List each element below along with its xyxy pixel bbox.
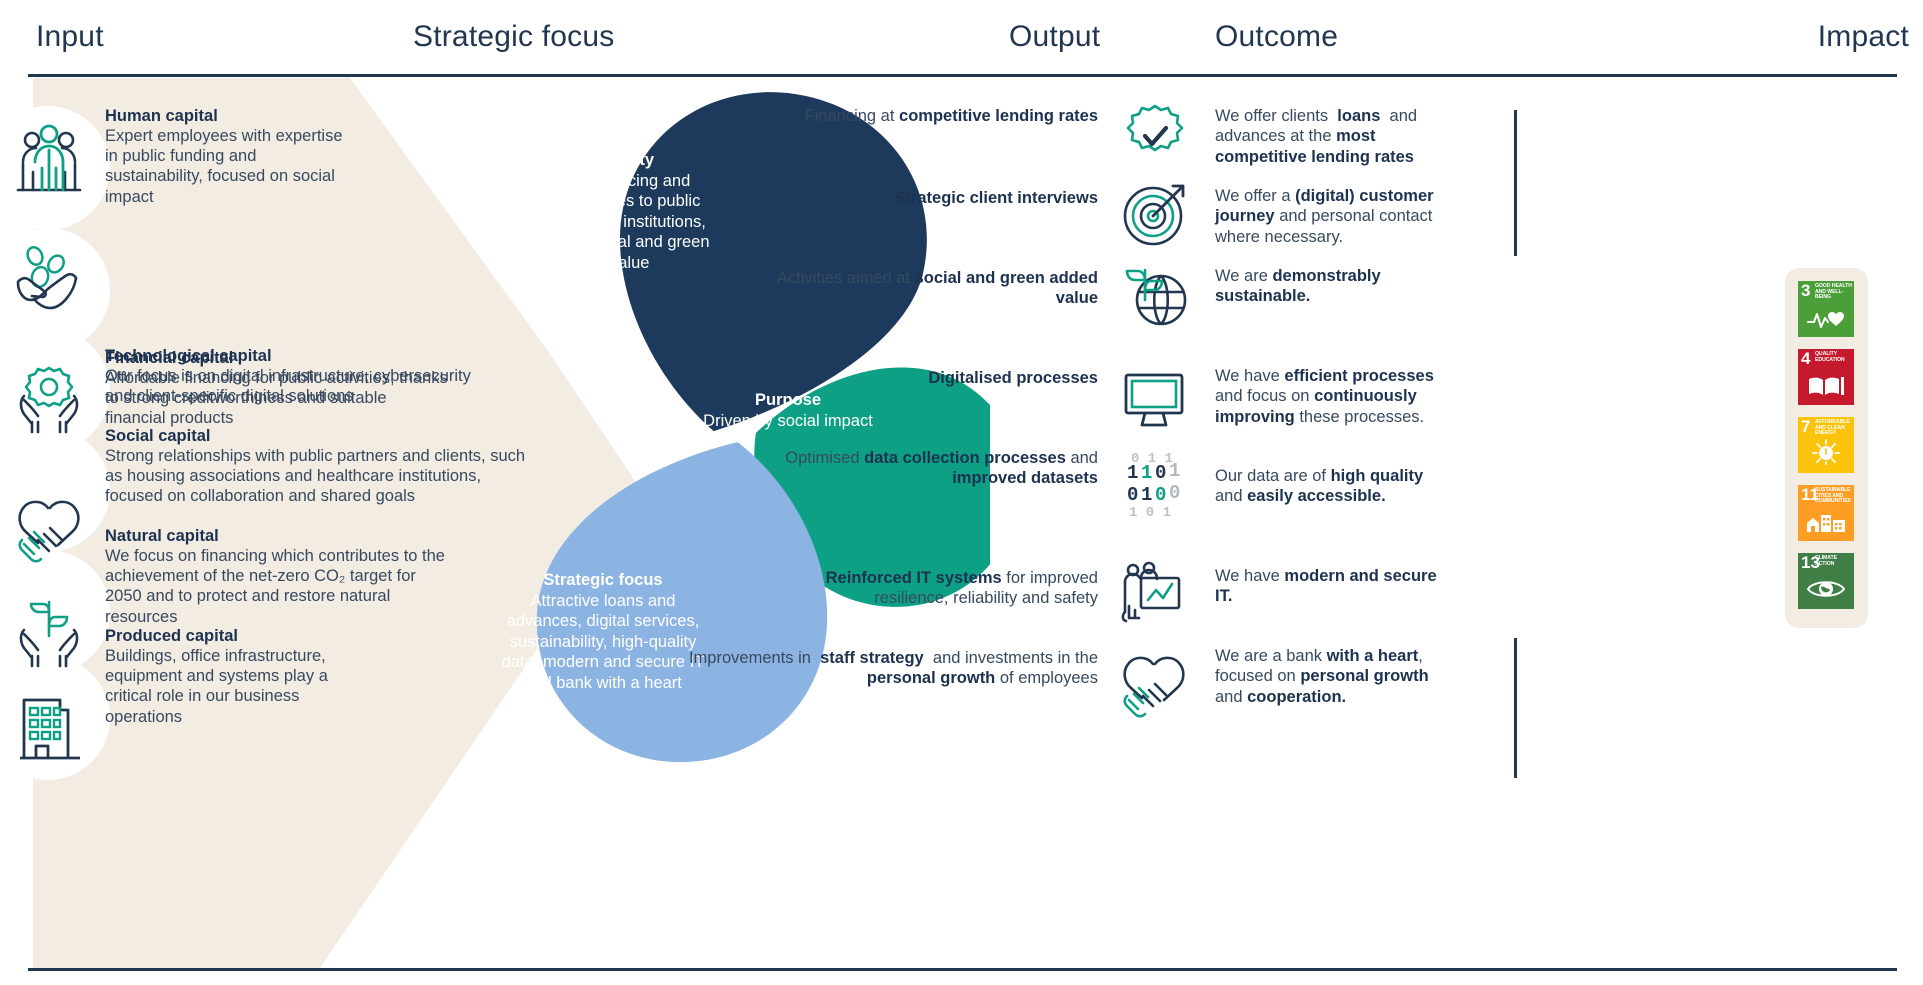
book-icon <box>1798 375 1854 402</box>
outcome-column: We offer clients loans and advances at t… <box>1215 78 1475 968</box>
column-header-strategic: Strategic focus <box>413 20 614 54</box>
footer-divider-rule <box>28 968 1897 971</box>
column-header-outcome: Outcome <box>1215 20 1338 54</box>
sdg-label: Sustainable cities and communities <box>1815 488 1852 505</box>
output-row-text: Improvements in staff strategy and inves… <box>668 648 1098 689</box>
input-item-body: Expert employees with expertise in publi… <box>105 126 355 207</box>
input-item-body: We focus on financing which contributes … <box>105 546 450 627</box>
badge-check-icon <box>1115 100 1195 172</box>
sun-icon <box>1798 439 1854 470</box>
svg-text:1 0 1: 1 0 1 <box>1129 505 1171 521</box>
sdg-badge-4[interactable]: 4 Quality education <box>1798 349 1854 405</box>
column-header-input: Input <box>36 20 104 54</box>
sdg-label: Quality education <box>1815 352 1852 363</box>
handshake-heart-icon <box>1115 646 1195 718</box>
svg-text:1: 1 <box>1141 484 1152 506</box>
svg-text:0: 0 <box>1155 484 1166 506</box>
output-row-text: Strategic client interviews <box>768 188 1098 208</box>
outcome-row-text: We have efficient processes and focus on… <box>1215 366 1455 427</box>
output-row-text: Activities aimed at social and green add… <box>768 268 1098 309</box>
sdg-label: Affordable and clean energy <box>1815 420 1852 437</box>
sdg-number: 7 <box>1801 418 1810 435</box>
social-capital-icon <box>10 488 88 566</box>
svg-text:0: 0 <box>1127 484 1138 506</box>
output-row-text: Reinforced IT systems for improved resil… <box>758 568 1098 609</box>
technological-capital-icon <box>10 360 88 438</box>
natural-capital-icon <box>10 594 88 672</box>
outcome-row-text: We are a bank with a heart, focused on p… <box>1215 646 1450 707</box>
impact-bracket-top <box>1514 110 1517 256</box>
output-icon-column: 1 1 0 1 0 1 0 0 0 1 1 1 0 1 <box>1115 78 1205 968</box>
binary-data-icon: 1 1 0 1 0 1 0 0 0 1 1 1 0 1 <box>1115 450 1195 522</box>
sdg-badge-13[interactable]: 13 Climate action <box>1798 553 1854 609</box>
outcome-row-text: We offer a (digital) customer journey an… <box>1215 186 1440 247</box>
impact-bracket-bottom <box>1514 638 1517 778</box>
outcome-row-text: Our data are of high quality and easily … <box>1215 466 1447 507</box>
produced-capital-icon <box>10 688 88 766</box>
sdg-number: 3 <box>1801 282 1810 299</box>
column-header-output: Output <box>1009 20 1100 54</box>
monitor-icon <box>1115 363 1195 435</box>
svg-text:0 1 1: 0 1 1 <box>1131 451 1173 467</box>
svg-text:0: 0 <box>1169 482 1180 504</box>
human-capital-icon <box>10 120 88 198</box>
sdg-badge-3[interactable]: 3 Good health and well-being <box>1798 281 1854 337</box>
output-column: Financing at competitive lending rates S… <box>660 78 1100 968</box>
it-systems-icon <box>1115 560 1195 632</box>
target-icon <box>1115 178 1195 250</box>
financial-capital-icon <box>10 242 88 320</box>
globe-leaf-icon <box>1115 260 1195 332</box>
impact-column: 3 Good health and well-being 4 Quality e… <box>1490 78 1910 968</box>
outcome-row-text: We offer clients loans and advances at t… <box>1215 106 1465 167</box>
output-row-text: Optimised data collection processes and … <box>768 448 1098 489</box>
sdg-label: Climate action <box>1815 556 1852 567</box>
column-header-impact: Impact <box>1818 20 1909 54</box>
sdg-badge-7[interactable]: 7 Affordable and clean energy <box>1798 417 1854 473</box>
sdg-number: 4 <box>1801 350 1810 367</box>
heartbeat-icon <box>1798 309 1854 334</box>
input-item-body: Buildings, office infrastructure, equipm… <box>105 646 355 727</box>
sdg-label: Good health and well-being <box>1815 284 1852 301</box>
outcome-row-text: We are demonstrably sustainable. <box>1215 266 1445 307</box>
eye-earth-icon <box>1798 577 1854 606</box>
city-icon <box>1798 511 1854 538</box>
outcome-row-text: We have modern and secure IT. <box>1215 566 1455 607</box>
output-row-text: Digitalised processes <box>768 368 1098 388</box>
output-row-text: Financing at competitive lending rates <box>768 106 1098 126</box>
sdg-badge-11[interactable]: 11 Sustainable cities and communities <box>1798 485 1854 541</box>
